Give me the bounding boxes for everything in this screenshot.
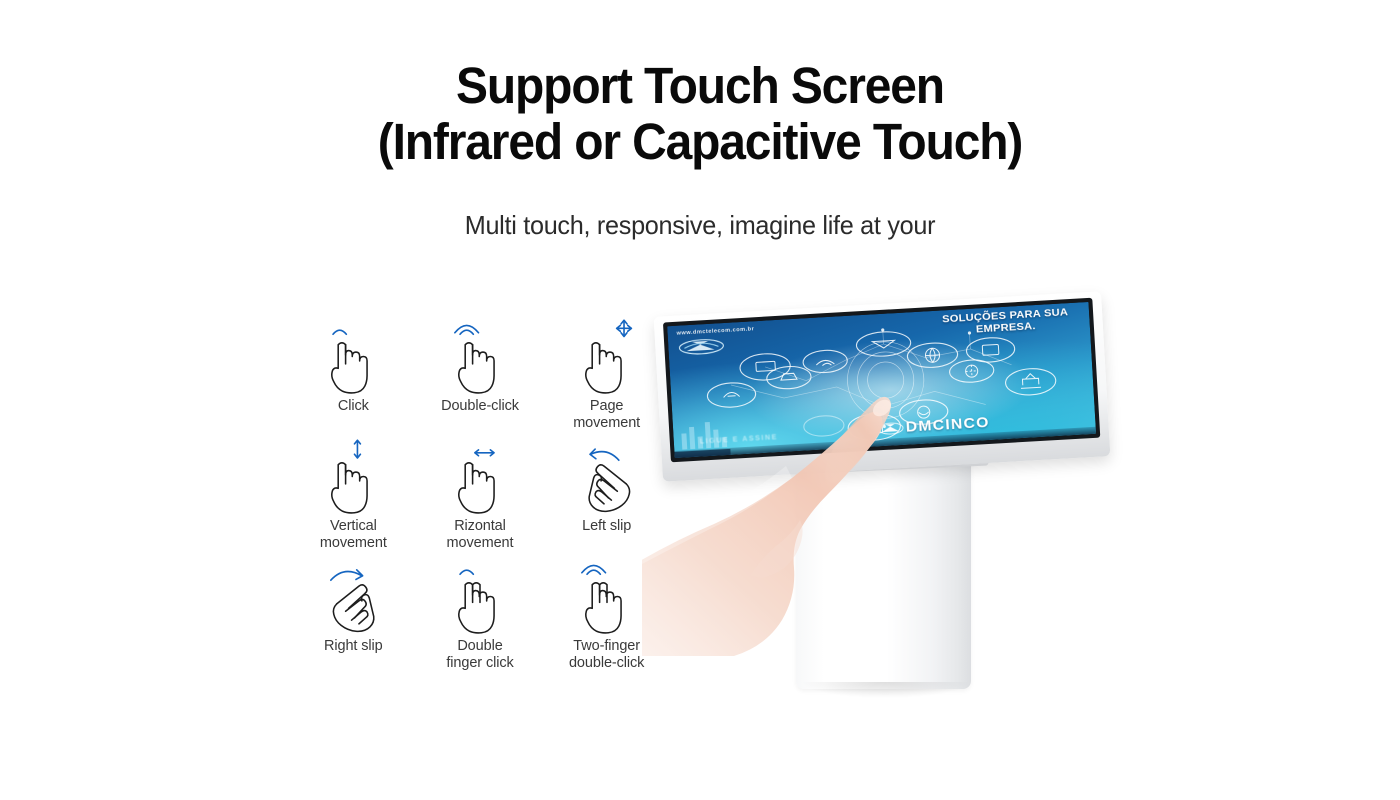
kiosk-display-panel: www.dmctelecom.com.br SOLUÇÕES PARA SUA … <box>654 291 1111 482</box>
two-finger-double-tap-icon <box>568 558 646 632</box>
gesture-label: Vertical movement <box>320 518 387 552</box>
gesture-legend: ClickDouble-clickPage movementVertical m… <box>290 318 670 678</box>
four-way-move-icon <box>568 318 646 392</box>
swipe-left-icon <box>568 438 646 512</box>
gesture-item: Vertical movement <box>290 438 417 558</box>
vertical-drag-icon <box>314 438 392 512</box>
gesture-label: Double-click <box>441 398 519 415</box>
page-title-line-1: Support Touch Screen <box>42 58 1358 114</box>
gesture-item: Double-click <box>417 318 544 438</box>
screen-bar-chart-icon <box>677 414 741 452</box>
gesture-item: Click <box>290 318 417 438</box>
panel-bezel: www.dmctelecom.com.br SOLUÇÕES PARA SUA … <box>663 298 1100 463</box>
page-title-line-2: (Infrared or Capacitive Touch) <box>42 114 1358 170</box>
gesture-item: Rizontal movement <box>417 438 544 558</box>
gesture-label: Double finger click <box>446 638 513 672</box>
gesture-label: Page movement <box>573 398 640 432</box>
horizontal-drag-icon <box>441 438 519 512</box>
swipe-right-icon <box>314 558 392 632</box>
two-finger-tap-icon <box>441 558 519 632</box>
kiosk-screen-content[interactable]: www.dmctelecom.com.br SOLUÇÕES PARA SUA … <box>667 302 1096 458</box>
gesture-label: Right slip <box>324 638 383 655</box>
gesture-item: Right slip <box>290 558 417 678</box>
gesture-item: Double finger click <box>417 558 544 678</box>
one-finger-double-tap-icon <box>441 318 519 392</box>
gesture-label: Left slip <box>582 518 631 535</box>
one-finger-tap-icon <box>314 318 392 392</box>
gesture-label: Rizontal movement <box>447 518 514 552</box>
page-header: Support Touch Screen (Infrared or Capaci… <box>0 58 1400 170</box>
gesture-label: Two-finger double-click <box>569 638 644 672</box>
touch-screen-kiosk: www.dmctelecom.com.br SOLUÇÕES PARA SUA … <box>648 292 1118 722</box>
kiosk-pedestal-stand <box>796 444 971 689</box>
gesture-label: Click <box>338 398 369 415</box>
brand-swoosh-icon <box>877 420 904 435</box>
page-subtitle: Multi touch, responsive, imagine life at… <box>21 208 1379 242</box>
